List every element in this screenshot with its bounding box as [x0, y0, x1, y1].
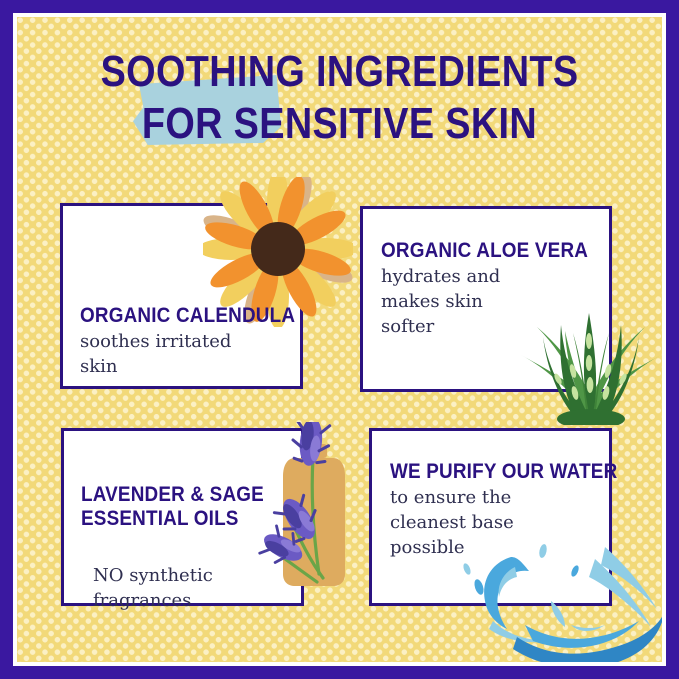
card-aloe-vera [360, 206, 612, 392]
title-highlight-brush [133, 75, 281, 145]
card-lavender-sage [61, 428, 304, 606]
card-calendula [60, 203, 303, 389]
page-title: SOOTHING INGREDIENTS FOR SENSITIVE SKIN [17, 47, 662, 149]
infographic-poster: SOOTHING INGREDIENTS FOR SENSITIVE SKIN [0, 0, 679, 679]
title-line-2: FOR SENSITIVE SKIN [62, 99, 617, 149]
polka-dot-background: SOOTHING INGREDIENTS FOR SENSITIVE SKIN [17, 17, 662, 662]
title-line-1: SOOTHING INGREDIENTS [62, 47, 617, 97]
card-purified-water [369, 428, 612, 606]
